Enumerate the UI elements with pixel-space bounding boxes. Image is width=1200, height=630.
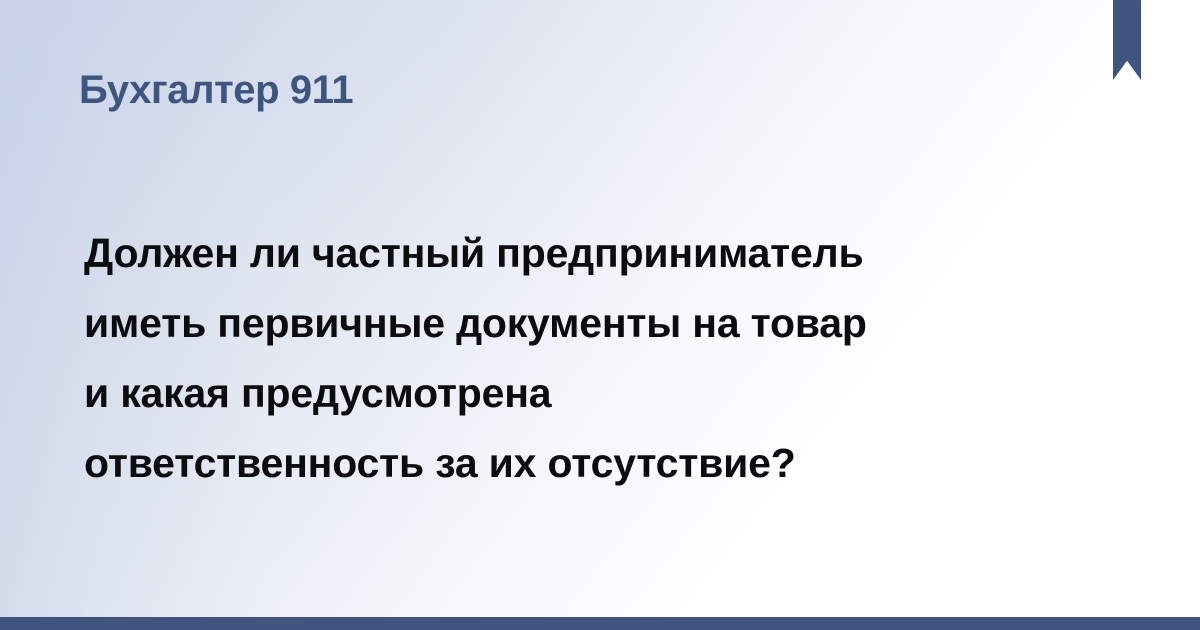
page-title-line: и какая предусмотрена <box>84 358 1084 428</box>
page-title: Должен ли частный предприниматель иметь … <box>84 218 1084 498</box>
site-logo[interactable]: Бухгалтер 911 <box>79 66 353 114</box>
page-title-line: ответственность за их отсутствие? <box>84 428 1084 498</box>
bookmark-ribbon-icon[interactable] <box>1113 0 1141 80</box>
page-title-line: Должен ли частный предприниматель <box>84 218 1084 288</box>
bottom-accent-bar <box>0 617 1200 630</box>
article-preview-card: Бухгалтер 911 Должен ли частный предприн… <box>0 0 1200 630</box>
page-title-line: иметь первичные документы на товар <box>84 288 1084 358</box>
